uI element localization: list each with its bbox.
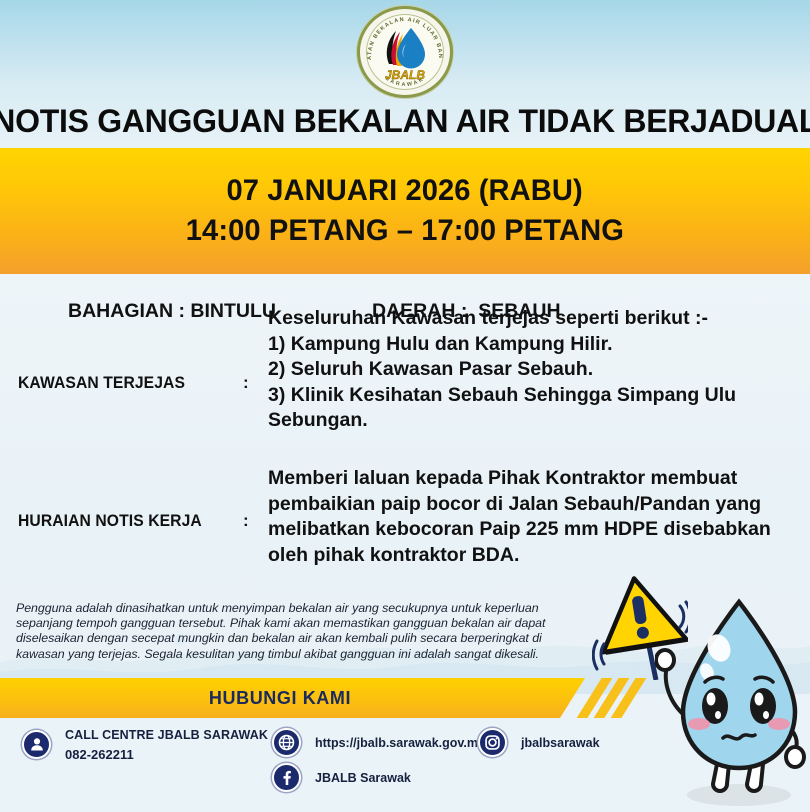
- work-description-text: Memberi laluan kepada Pihak Kontraktor m…: [268, 466, 796, 568]
- contact-instagram[interactable]: jbalbsarawak: [478, 728, 600, 757]
- call-centre-text: CALL CENTRE JBALB SARAWAK 082-262211: [65, 726, 268, 762]
- disclaimer-text: Pengguna adalah dinasihatkan untuk menyi…: [16, 601, 582, 662]
- affected-areas-label: KAWASAN TERJEJAS: [18, 374, 229, 393]
- work-description-content: Memberi laluan kepada Pihak Kontraktor m…: [268, 466, 796, 568]
- division-label: BAHAGIAN :: [68, 300, 185, 323]
- page-title: NOTIS GANGGUAN BEKALAN AIR TIDAK BERJADU…: [0, 103, 810, 140]
- division-value: BINTULU: [190, 300, 276, 323]
- website-url: https://jbalb.sarawak.gov.my/: [315, 736, 488, 750]
- disruption-date: 07 JANUARI 2026 (RABU): [227, 174, 583, 208]
- facebook-text: JBALB Sarawak: [315, 769, 411, 787]
- person-icon: [22, 730, 51, 759]
- affected-areas-content: Keseluruhan Kawasan terjejas seperti ber…: [268, 306, 796, 434]
- disruption-time: 14:00 PETANG – 17:00 PETANG: [186, 214, 624, 248]
- logo-artwork: JABATAN BEKALAN AIR LUAR BANDAR SARAWAK …: [357, 6, 453, 98]
- affected-area-item: 2) Seluruh Kawasan Pasar Sebauh.: [268, 357, 796, 383]
- work-description-colon: :: [243, 511, 249, 531]
- contact-banner: HUBUNGI KAMI: [0, 678, 600, 718]
- affected-area-item: 3) Klinik Kesihatan Sebauh Sehingga Simp…: [268, 383, 796, 434]
- instagram-icon: [478, 728, 507, 757]
- facebook-page-name: JBALB Sarawak: [315, 771, 411, 785]
- instagram-handle: jbalbsarawak: [521, 736, 600, 750]
- date-time-banner: 07 JANUARI 2026 (RABU) 14:00 PETANG – 17…: [0, 148, 810, 274]
- affected-areas-block: KAWASAN TERJEJAS : Keseluruhan Kawasan t…: [0, 326, 810, 466]
- call-centre-name: CALL CENTRE JBALB SARAWAK: [65, 728, 268, 742]
- work-description-block: HURAIAN NOTIS KERJA : Memberi laluan kep…: [0, 474, 810, 594]
- affected-areas-intro: Keseluruhan Kawasan terjejas seperti ber…: [268, 306, 796, 332]
- affected-area-item: 1) Kampung Hulu dan Kampung Hilir.: [268, 332, 796, 358]
- water-disruption-notice-poster: JABATAN BEKALAN AIR LUAR BANDAR SARAWAK …: [0, 0, 810, 812]
- contact-facebook[interactable]: JBALB Sarawak: [272, 763, 411, 792]
- facebook-icon: [272, 763, 301, 792]
- svg-text:JBALB: JBALB: [385, 68, 425, 82]
- globe-icon: [272, 728, 301, 757]
- water-droplet-mascot: [655, 596, 810, 812]
- contact-banner-label: HUBUNGI KAMI: [0, 678, 560, 718]
- poster-header: JABATAN BEKALAN AIR LUAR BANDAR SARAWAK …: [0, 0, 810, 148]
- jbalb-logo: JABATAN BEKALAN AIR LUAR BANDAR SARAWAK …: [357, 6, 453, 98]
- work-description-label: HURAIAN NOTIS KERJA: [18, 512, 229, 531]
- website-text: https://jbalb.sarawak.gov.my/: [315, 734, 488, 752]
- call-centre-number: 082-262211: [65, 747, 268, 762]
- title-bar: NOTIS GANGGUAN BEKALAN AIR TIDAK BERJADU…: [0, 98, 810, 144]
- affected-areas-colon: :: [243, 373, 249, 393]
- instagram-text: jbalbsarawak: [521, 734, 600, 752]
- contact-website[interactable]: https://jbalb.sarawak.gov.my/: [272, 728, 488, 757]
- contact-call-centre[interactable]: CALL CENTRE JBALB SARAWAK 082-262211: [22, 726, 268, 762]
